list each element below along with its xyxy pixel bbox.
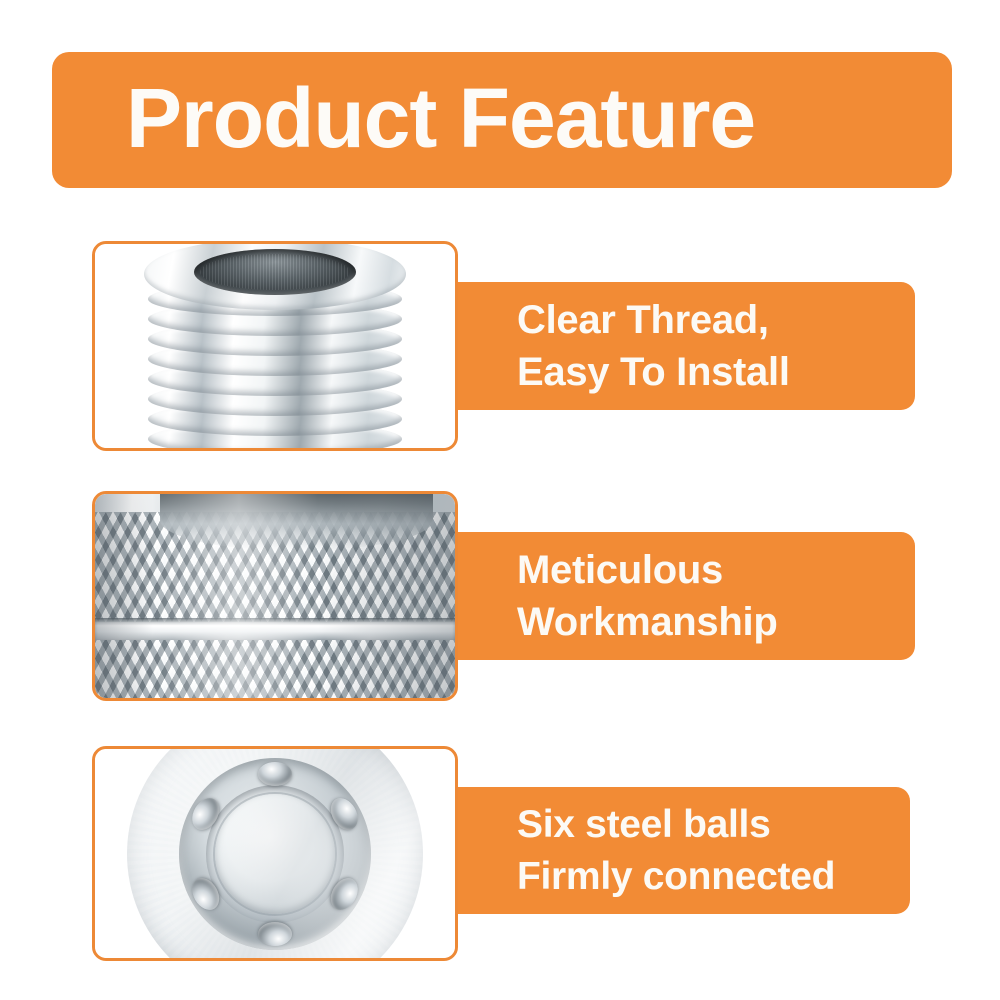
header-banner: Product Feature [52,52,952,188]
threaded-fitting-photo [95,244,455,448]
feature-label-line-2: Firmly connected [420,851,910,903]
feature-image-frame-3 [92,746,458,961]
feature-row-2: Meticulous Workmanship [0,491,1000,701]
feature-label-line-1: Six steel balls [420,799,910,851]
feature-label-bar-2: Meticulous Workmanship [420,532,915,660]
page-title: Product Feature [52,76,755,160]
steel-balls-photo [95,749,455,958]
feature-label-line-1: Meticulous [420,544,915,596]
steel-ball [258,762,292,786]
feature-label-line-2: Easy To Install [420,346,915,398]
feature-label-line-1: Clear Thread, [420,294,915,346]
feature-row-1: Clear Thread, Easy To Install [0,241,1000,451]
feature-label-bar-1: Clear Thread, Easy To Install [420,282,915,410]
feature-image-frame-2 [92,491,458,701]
product-feature-page: Product Feature Clear Thread, Easy To In… [0,0,1000,1000]
feature-row-3: Six steel balls Firmly connected [0,746,1000,961]
steel-ball [258,922,292,946]
feature-label-bar-3: Six steel balls Firmly connected [420,787,910,914]
knurled-surface-photo [95,494,455,698]
feature-label-line-2: Workmanship [420,596,915,648]
feature-image-frame-1 [92,241,458,451]
